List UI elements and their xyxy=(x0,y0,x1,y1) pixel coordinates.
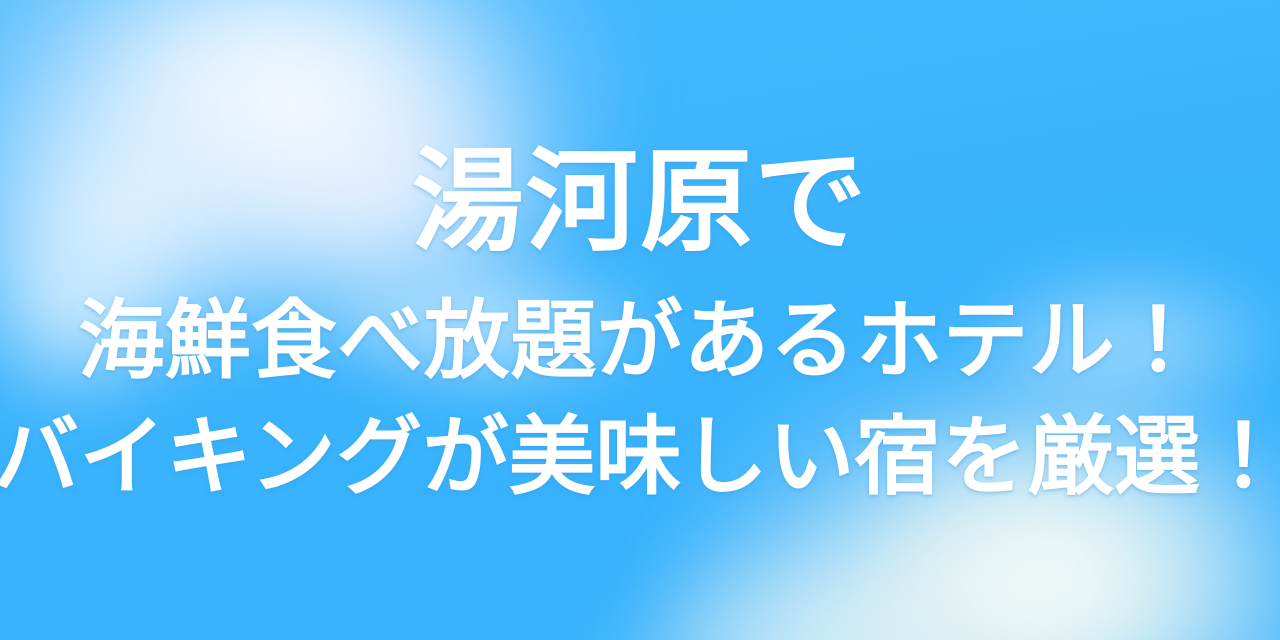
eyecatch-banner: 湯河原で 海鮮食べ放題があるホテル！ バイキングが美味しい宿を厳選！ xyxy=(0,0,1280,640)
sky-background xyxy=(0,0,1280,640)
